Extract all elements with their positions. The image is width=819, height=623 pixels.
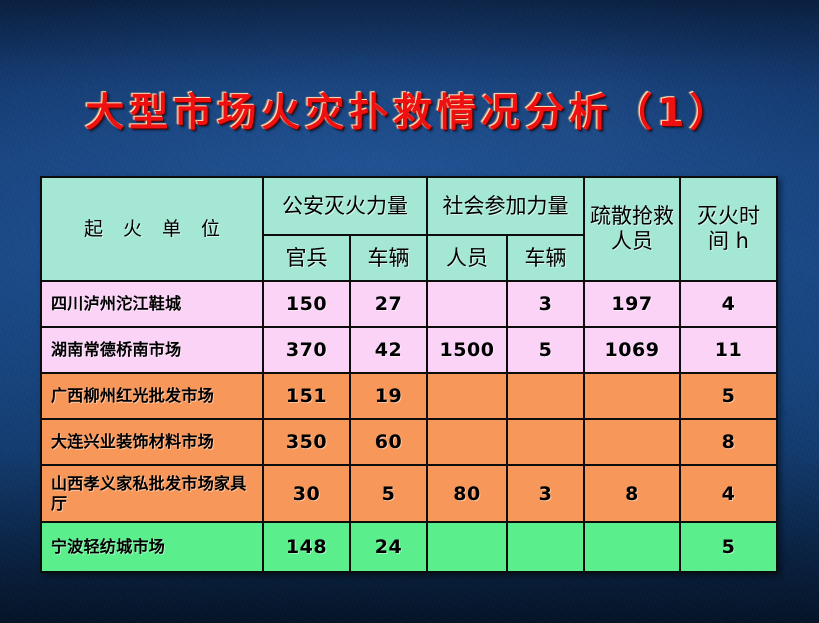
table-header: 起 火 单 位 公安灭火力量 社会参加力量 疏散抢救人员 灭火时 间 h 官兵 … (41, 177, 777, 281)
cell-social-people: 80 (427, 465, 507, 522)
cell-police-officers: 370 (263, 327, 350, 373)
header-sub-social-vehicles: 车辆 (507, 235, 584, 281)
slide-title: 大型市场火灾扑救情况分析（1） (0, 82, 819, 138)
fire-statistics-table-container: 起 火 单 位 公安灭火力量 社会参加力量 疏散抢救人员 灭火时 间 h 官兵 … (40, 176, 778, 573)
cell-police-officers: 148 (263, 522, 350, 572)
cell-unit: 山西孝义家私批发市场家具厅 (41, 465, 263, 522)
cell-police-vehicles: 19 (350, 373, 427, 419)
cell-extinguish-time: 4 (680, 281, 777, 327)
table-row: 四川泸州沱江鞋城1502731974 (41, 281, 777, 327)
cell-unit: 大连兴业装饰材料市场 (41, 419, 263, 465)
cell-social-people (427, 522, 507, 572)
cell-police-vehicles: 27 (350, 281, 427, 327)
table-row: 山西孝义家私批发市场家具厅30580384 (41, 465, 777, 522)
cell-police-officers: 150 (263, 281, 350, 327)
cell-social-people (427, 373, 507, 419)
cell-evacuated (584, 522, 680, 572)
cell-evacuated (584, 419, 680, 465)
cell-social-people (427, 419, 507, 465)
table-body: 四川泸州沱江鞋城1502731974湖南常德桥南市场37042150051069… (41, 281, 777, 572)
header-group-social-force: 社会参加力量 (427, 177, 584, 235)
table-row: 湖南常德桥南市场3704215005106911 (41, 327, 777, 373)
cell-police-vehicles: 24 (350, 522, 427, 572)
cell-police-officers: 151 (263, 373, 350, 419)
header-extinguish-time-line1: 灭火时 (697, 204, 760, 228)
header-sub-social-people: 人员 (427, 235, 507, 281)
table-row: 宁波轻纺城市场148245 (41, 522, 777, 572)
cell-unit: 宁波轻纺城市场 (41, 522, 263, 572)
cell-evacuated: 8 (584, 465, 680, 522)
cell-extinguish-time: 4 (680, 465, 777, 522)
table-row: 大连兴业装饰材料市场350608 (41, 419, 777, 465)
cell-extinguish-time: 5 (680, 522, 777, 572)
header-unit: 起 火 单 位 (41, 177, 263, 281)
fire-statistics-table: 起 火 单 位 公安灭火力量 社会参加力量 疏散抢救人员 灭火时 间 h 官兵 … (40, 176, 778, 573)
cell-evacuated: 197 (584, 281, 680, 327)
header-extinguish-time: 灭火时 间 h (680, 177, 777, 281)
cell-unit: 四川泸州沱江鞋城 (41, 281, 263, 327)
cell-evacuated: 1069 (584, 327, 680, 373)
cell-police-officers: 30 (263, 465, 350, 522)
cell-social-vehicles (507, 373, 584, 419)
header-group-police-force: 公安灭火力量 (263, 177, 427, 235)
presentation-slide: 大型市场火灾扑救情况分析（1） 起 火 单 位 公安灭火力量 社会参加力量 疏散… (0, 0, 819, 623)
header-sub-police-vehicles: 车辆 (350, 235, 427, 281)
cell-social-vehicles: 3 (507, 465, 584, 522)
header-extinguish-time-line2: 间 h (708, 229, 749, 253)
header-sub-police-officers: 官兵 (263, 235, 350, 281)
cell-social-people: 1500 (427, 327, 507, 373)
cell-evacuated (584, 373, 680, 419)
cell-police-vehicles: 5 (350, 465, 427, 522)
cell-unit: 广西柳州红光批发市场 (41, 373, 263, 419)
cell-unit: 湖南常德桥南市场 (41, 327, 263, 373)
cell-social-vehicles (507, 522, 584, 572)
cell-social-people (427, 281, 507, 327)
table-row: 广西柳州红光批发市场151195 (41, 373, 777, 419)
cell-police-officers: 350 (263, 419, 350, 465)
cell-extinguish-time: 11 (680, 327, 777, 373)
cell-social-vehicles: 3 (507, 281, 584, 327)
cell-extinguish-time: 8 (680, 419, 777, 465)
cell-police-vehicles: 42 (350, 327, 427, 373)
cell-extinguish-time: 5 (680, 373, 777, 419)
cell-social-vehicles (507, 419, 584, 465)
header-evacuated-rescued: 疏散抢救人员 (584, 177, 680, 281)
cell-police-vehicles: 60 (350, 419, 427, 465)
cell-social-vehicles: 5 (507, 327, 584, 373)
